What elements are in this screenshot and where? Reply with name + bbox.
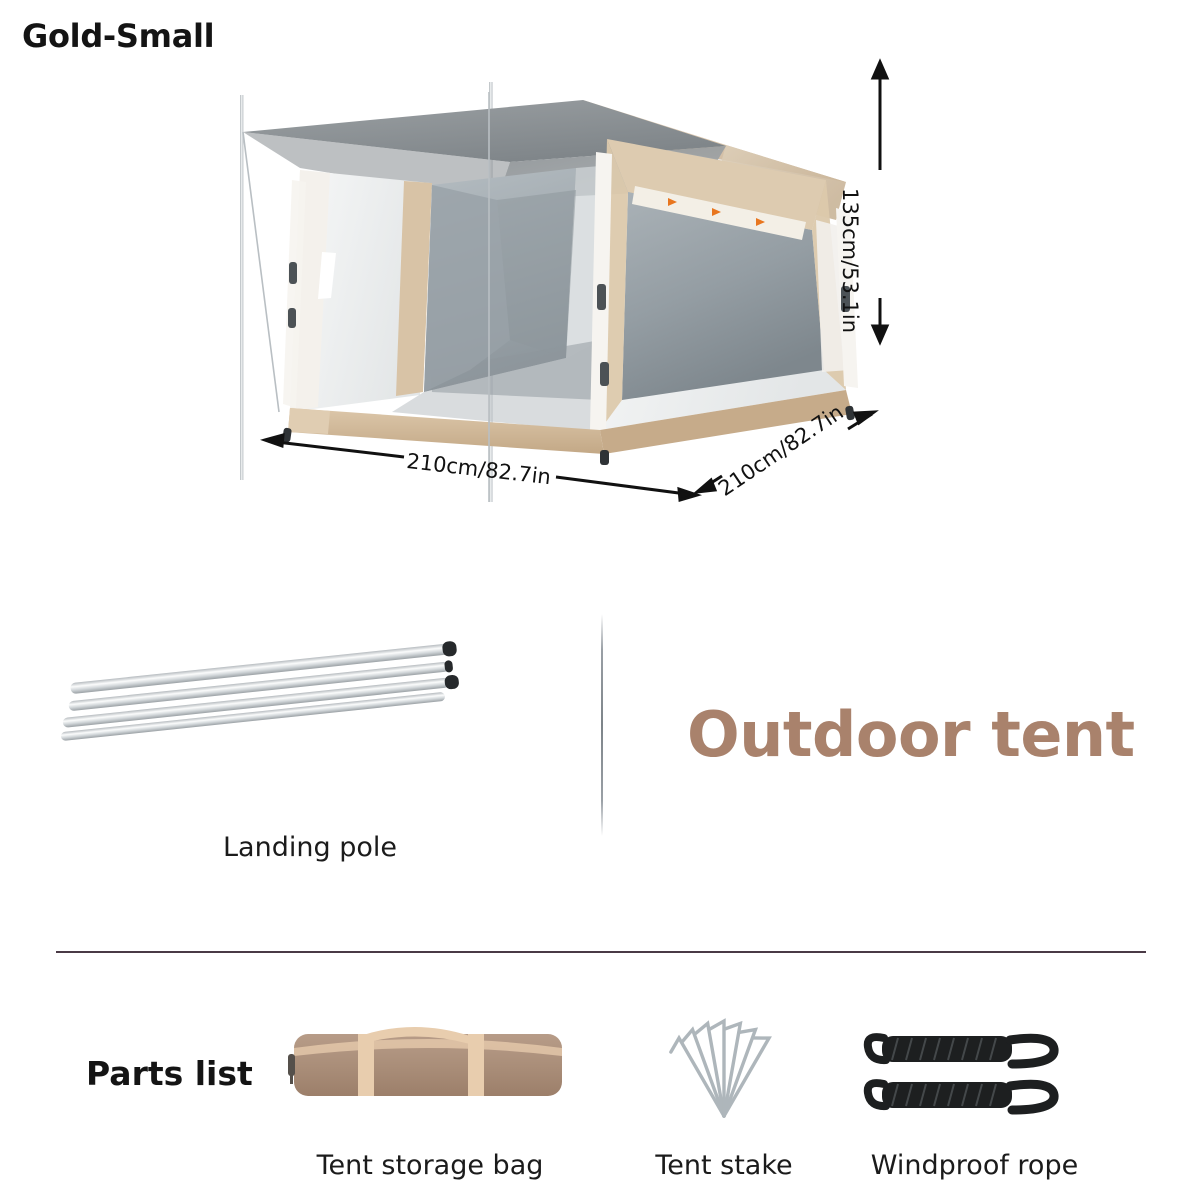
- pole-rods: [61, 641, 460, 742]
- tent-drawing: [0, 40, 1200, 510]
- dimension-arrow-height: [873, 62, 887, 342]
- product-infographic: Gold-Small: [0, 0, 1200, 1200]
- landing-pole-label: Landing pole: [60, 832, 560, 863]
- dimension-label-height: 135cm/53.1in: [838, 188, 862, 333]
- rope-coil-1: [868, 1036, 1054, 1064]
- part-label-tent-storage-bag: Tent storage bag: [280, 1150, 580, 1181]
- tent-left-wall: [290, 170, 432, 412]
- tent-illustration: 210cm/82.7in 210cm/82.7in 135cm/53.1in: [0, 40, 1200, 510]
- landing-pole-block: Landing pole: [60, 600, 560, 900]
- rope-coil-2: [868, 1082, 1054, 1110]
- part-label-tent-stake: Tent stake: [614, 1150, 834, 1181]
- tent-storage-bag-icon: [280, 1012, 580, 1132]
- part-item-tent-storage-bag: Tent storage bag: [280, 1012, 580, 1202]
- part-item-tent-stake: Tent stake: [614, 1012, 834, 1202]
- part-label-windproof-rope: Windproof rope: [852, 1150, 1097, 1181]
- part-item-windproof-rope: Windproof rope: [852, 1012, 1097, 1202]
- section-horizontal-divider: [56, 951, 1146, 953]
- windproof-rope-icon: [852, 1012, 1097, 1132]
- section-vertical-divider: [601, 614, 603, 836]
- landing-pole-drawing: [60, 600, 560, 840]
- product-hero-title: Outdoor tent: [687, 698, 1135, 771]
- tent-stake-icon: [614, 1012, 834, 1132]
- parts-list-heading: Parts list: [86, 1054, 253, 1093]
